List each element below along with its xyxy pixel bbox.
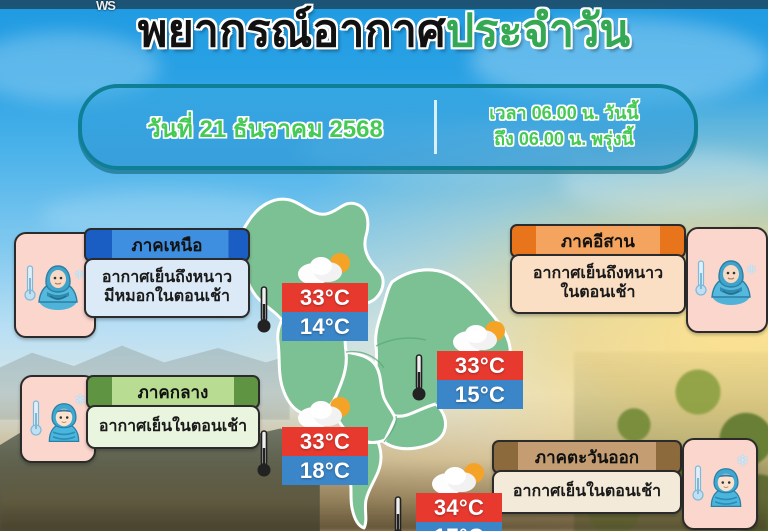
central-icon-box: ❄: [20, 375, 96, 463]
thermometer-icon: [256, 284, 272, 336]
northeast-header: ภาคอีสาน: [510, 224, 686, 258]
central-title: ภาคกลาง: [138, 379, 209, 406]
vertical-divider: [434, 100, 437, 154]
central-header: ภาคกลาง: [86, 375, 260, 409]
sun-behind-cloud-icon: [294, 394, 356, 430]
temp-high-central: 33°C: [282, 427, 368, 456]
forecast-date: วันที่ 21 ธันวาคม 2568: [102, 109, 428, 148]
east-title: ภาคตะวันออก: [535, 444, 639, 471]
temp-low-north: 14°C: [282, 312, 368, 341]
hooded-child-icon: [704, 466, 748, 510]
north-desc-line2: มีหมอกในตอนเช้า: [104, 288, 230, 307]
thermometer-icon: [692, 464, 704, 502]
title-black-part: พยากรณ์อากาศ: [138, 5, 446, 56]
temp-low-northeast: 15°C: [437, 380, 523, 409]
region-card-central[interactable]: ❄ ภาคกลาง อากาศเย็นในตอนเช้า: [20, 375, 256, 457]
thermometer-icon: [30, 399, 42, 437]
sun-behind-cloud-icon: [428, 460, 490, 496]
title-green-part: ประจำวัน: [446, 5, 631, 56]
time-line-2: ถึง 06.00 น. พรุ่งนี้: [448, 126, 680, 152]
region-card-north[interactable]: ❄ ภาคเหนือ อากาศเย็นถึงหนาว มีหมอกในตอนเ…: [14, 228, 246, 336]
east-header: ภาคตะวันออก: [492, 440, 682, 474]
east-icon-box: ❄: [682, 438, 758, 530]
sun-behind-cloud-icon: [294, 250, 356, 286]
forecast-time-range: เวลา 06.00 น. วันนี้ ถึง 06.00 น. พรุ่งน…: [448, 100, 680, 152]
north-desc-line1: อากาศเย็นถึงหนาว: [102, 269, 232, 288]
temp-high-northeast: 33°C: [437, 351, 523, 380]
time-line-1: เวลา 06.00 น. วันนี้: [448, 100, 680, 126]
thermometer-icon: [695, 259, 707, 297]
north-header: ภาคเหนือ: [84, 228, 250, 262]
temp-high-south: 34°C: [416, 493, 502, 522]
central-desc-line1: อากาศเย็นในตอนเช้า: [99, 418, 247, 437]
east-desc-line1: อากาศเย็นในตอนเช้า: [513, 483, 661, 502]
snowflake-icon: ❄: [746, 263, 757, 276]
north-title: ภาคเหนือ: [132, 232, 203, 259]
northeast-body: อากาศเย็นถึงหนาว ในตอนเช้า: [510, 254, 686, 314]
central-body: อากาศเย็นในตอนเช้า: [86, 405, 260, 449]
region-card-east[interactable]: ภาคตะวันออก อากาศเย็นในตอนเช้า ❄: [492, 440, 754, 522]
northeast-icon-box: ❄: [686, 227, 768, 333]
page-title: พยากรณ์อากาศประจำวัน: [0, 8, 768, 53]
weather-infographic: WS พยากรณ์อากาศประจำวัน วันที่ 21 ธันวาค…: [0, 0, 768, 531]
temp-high-north: 33°C: [282, 283, 368, 312]
northeast-desc-line1: อากาศเย็นถึงหนาว: [533, 265, 663, 284]
thermometer-icon: [390, 494, 406, 531]
thermometer-icon: [411, 352, 427, 404]
region-card-northeast[interactable]: ภาคอีสาน อากาศเย็นถึงหนาว ในตอนเช้า: [510, 224, 756, 334]
snowflake-icon: ❄: [736, 454, 749, 470]
sun-behind-cloud-icon: [449, 318, 511, 354]
east-body: อากาศเย็นในตอนเช้า: [492, 470, 682, 514]
temp-low-south: 17°C: [416, 522, 502, 531]
date-time-bar: วันที่ 21 ธันวาคม 2568 เวลา 06.00 น. วัน…: [78, 84, 698, 170]
thermometer-icon: [256, 428, 272, 480]
northeast-title: ภาคอีสาน: [561, 228, 635, 255]
snowflake-icon: ❄: [74, 393, 87, 408]
northeast-desc-line2: ในตอนเช้า: [561, 284, 636, 303]
north-body: อากาศเย็นถึงหนาว มีหมอกในตอนเช้า: [84, 258, 250, 318]
temp-low-central: 18°C: [282, 456, 368, 485]
